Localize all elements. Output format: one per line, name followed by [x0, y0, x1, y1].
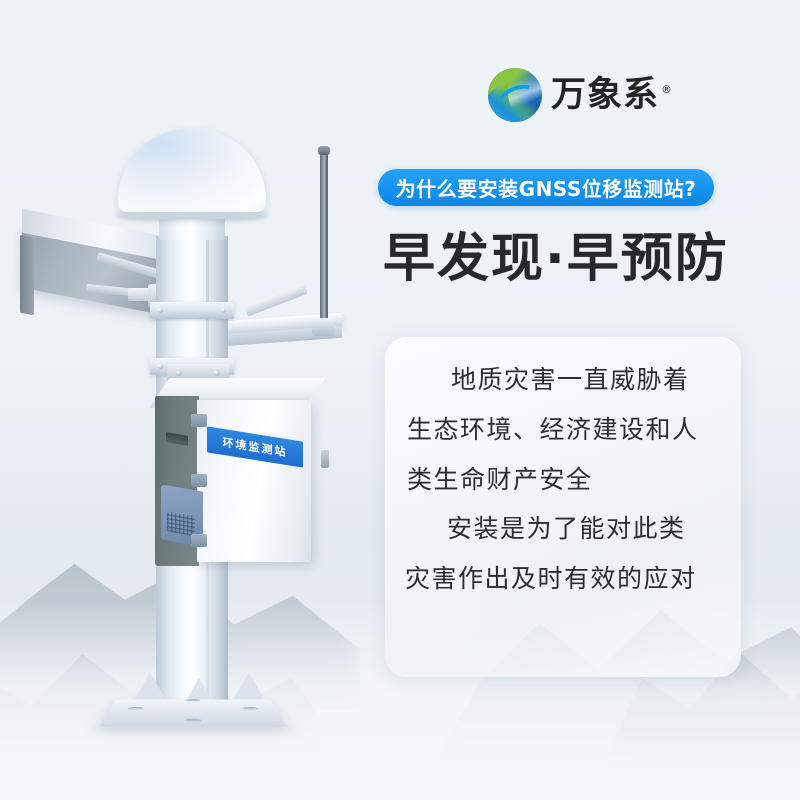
base-plate [99, 699, 288, 727]
mount-bolt [214, 370, 220, 376]
base-bolt-hole [127, 707, 144, 710]
gnss-monitoring-station: 环境监测站 [0, 0, 400, 800]
base-bolt-hole [242, 707, 259, 710]
cabinet-door-latch [321, 450, 329, 468]
cabinet-bracket-middle [191, 474, 207, 487]
body-line: 安装是为了能对此类 [385, 512, 741, 546]
mast-collar-upper [150, 302, 234, 319]
question-banner-text: 为什么要安装GNSS位移监测站? [396, 173, 697, 202]
cabinet-front-door [197, 400, 311, 562]
cabinet-bracket-top [191, 414, 207, 427]
gnss-antenna-dome [118, 128, 266, 212]
whip-antenna-cap [318, 146, 330, 155]
brand-name-wrap: 万象系® [551, 78, 673, 113]
promo-poster: 环境监测站 万象系® 为什么要安装GNSS位移监测站? 早发现·早预防 [0, 0, 800, 800]
whip-antenna-rod [320, 150, 328, 326]
body-line: 类生命财产安全 [385, 463, 741, 497]
body-text-lines: 地质灾害一直威胁着 生态环境、经济建设和人 类生命财产安全 安装是为了能对此类 … [385, 363, 741, 596]
solar-panel-edge [20, 235, 34, 316]
registered-trademark-icon: ® [661, 83, 673, 96]
cabinet-bracket-bottom [191, 534, 207, 547]
collar-bolt [221, 308, 226, 313]
brand-name: 万象系 [551, 75, 659, 115]
base-gusset-left [133, 672, 167, 702]
headline-text: 早发现·早预防 [383, 233, 729, 285]
collar-bolt [158, 308, 163, 313]
body-line: 生态环境、经济建设和人 [385, 413, 741, 447]
cross-arm-brace [244, 283, 308, 316]
question-banner: 为什么要安装GNSS位移监测站? [378, 169, 714, 206]
globe-swirl-logo-icon [488, 68, 542, 122]
body-line: 灾害作出及时有效的应对 [385, 562, 741, 596]
body-line: 地质灾害一直威胁着 [385, 363, 741, 397]
collar-bolt [158, 364, 163, 369]
mount-bolt [176, 370, 182, 376]
base-bolt-hole [184, 719, 201, 723]
body-text-card: 地质灾害一直威胁着 生态环境、经济建设和人 类生命财产安全 安装是为了能对此类 … [385, 337, 741, 677]
control-cabinet: 环境监测站 [155, 378, 323, 566]
page-title: 早发现·早预防 [383, 226, 763, 292]
cabinet-label-text: 环境监测站 [223, 434, 288, 460]
base-gusset-right [232, 672, 266, 702]
brand-logo[interactable]: 万象系® [488, 64, 668, 126]
base-bolt-hole [186, 699, 201, 702]
whip-antenna-mount [312, 318, 334, 336]
